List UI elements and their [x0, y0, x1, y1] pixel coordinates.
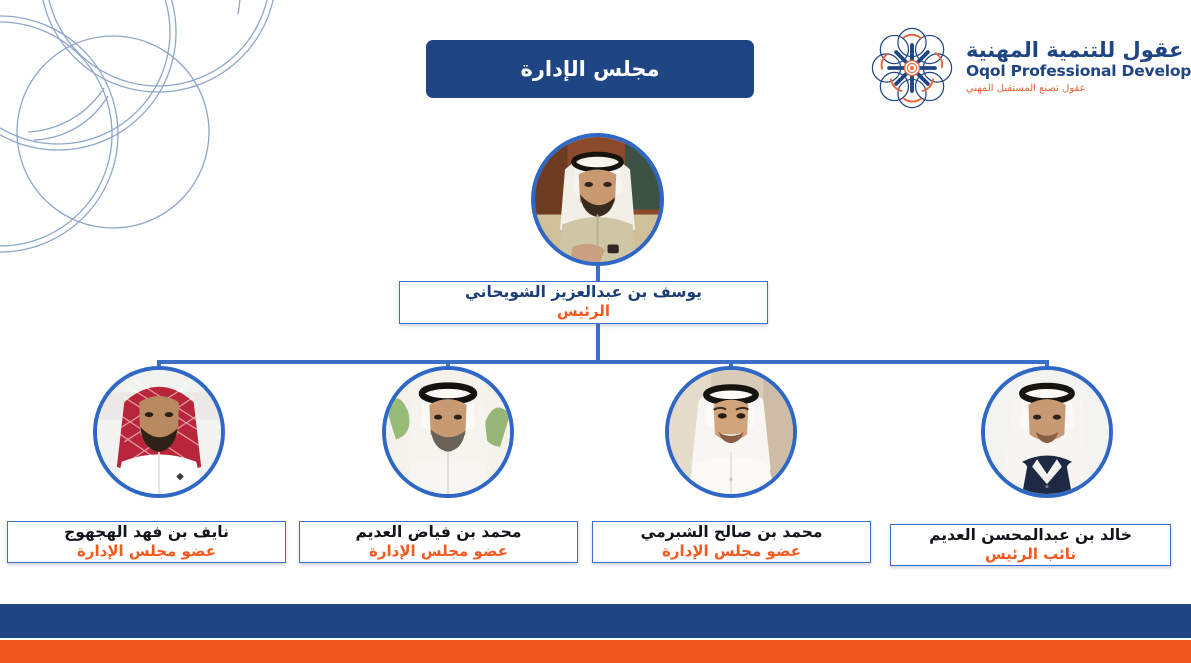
logo-english-name: Oqol Professional Development [966, 63, 1191, 80]
portrait-president [535, 137, 660, 262]
decorative-rings-watermark [0, 0, 288, 282]
connector-president-top [596, 266, 600, 281]
connector-trunk-vertical [596, 324, 600, 362]
page-title: مجلس الإدارة [520, 57, 659, 81]
card-member-1: نايف بن فهد الهجهوج عضو مجلس الإدارة [7, 521, 286, 563]
portrait-member-2 [386, 370, 510, 494]
avatar-president [531, 133, 664, 266]
page-title-banner: مجلس الإدارة [426, 40, 754, 98]
card-member-2: محمد بن فياض العديم عضو مجلس الإدارة [299, 521, 578, 563]
member-3-name: محمد بن صالح الشبرمي [641, 524, 823, 542]
member-1-name: نايف بن فهد الهجهوج [64, 524, 229, 542]
member-2-name: محمد بن فياض العديم [355, 524, 521, 542]
member-4-name: خالد بن عبدالمحسن العديم [929, 527, 1132, 545]
member-2-role: عضو مجلس الإدارة [369, 543, 508, 560]
avatar-member-3 [665, 366, 797, 498]
flower-rosette-icon [866, 24, 958, 112]
member-1-role: عضو مجلس الإدارة [77, 543, 216, 560]
portrait-member-3 [669, 370, 793, 494]
avatar-member-4 [981, 366, 1113, 498]
portrait-member-1: الجـ [97, 370, 221, 494]
footer-bar-navy [0, 604, 1191, 638]
slide-canvas: مجلس الإدارة [0, 0, 1191, 663]
avatar-member-1: الجـ [93, 366, 225, 498]
footer-bar-orange [0, 640, 1191, 663]
president-role: الرئيس [557, 303, 610, 320]
card-member-4: خالد بن عبدالمحسن العديم نائب الرئيس [890, 524, 1171, 566]
logo-tagline: عقول تصنع المستقبل المهني [966, 83, 1086, 94]
connector-horizontal-bus [159, 360, 1049, 364]
avatar-member-2 [382, 366, 514, 498]
logo-arabic-name: عقول للتنمية المهنية [966, 39, 1183, 63]
member-3-role: عضو مجلس الإدارة [662, 543, 801, 560]
member-4-role: نائب الرئيس [985, 546, 1076, 563]
portrait-member-4 [985, 370, 1109, 494]
president-name: يوسف بن عبدالعزيز الشويحاني [465, 284, 702, 302]
card-member-3: محمد بن صالح الشبرمي عضو مجلس الإدارة [592, 521, 871, 563]
brand-logo: عقول للتنمية المهنية Oqol Professional D… [866, 24, 1176, 112]
card-president: يوسف بن عبدالعزيز الشويحاني الرئيس [399, 281, 768, 324]
